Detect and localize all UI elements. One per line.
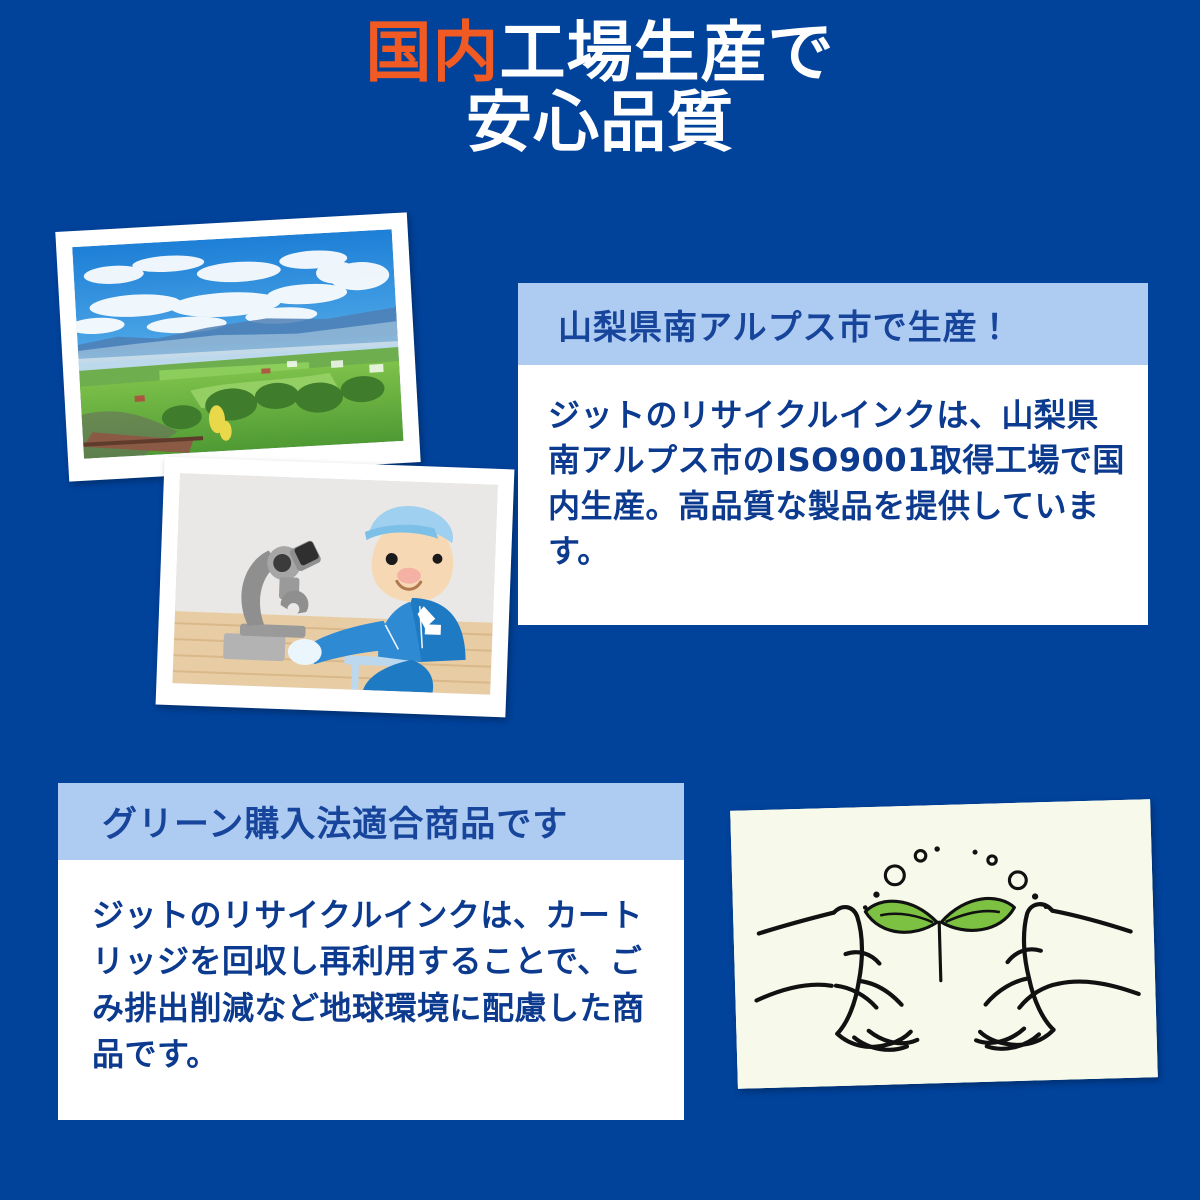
- headline-line1-text: 工場生産で: [500, 14, 835, 91]
- card-yamanashi-body: ジットのリサイクルインクは、山梨県南アルプス市のISO9001取得工場で国内生産…: [518, 365, 1148, 575]
- card-green-purchasing-body: ジットのリサイクルインクは、カートリッジを回収し再利用することで、ごみ排出削減な…: [58, 860, 684, 1078]
- headline-line2-text: 安心品質: [0, 88, 1200, 158]
- page-title: 国内工場生産で 安心品質: [0, 18, 1200, 158]
- landscape-photo-image: [72, 229, 403, 459]
- microscope-illustration-image: [172, 473, 497, 695]
- factory-worker-microscope-photo: [156, 457, 515, 718]
- card-green-purchasing: グリーン購入法適合商品です ジットのリサイクルインクは、カートリッジを回収し再利…: [58, 783, 684, 1120]
- headline-accent-text: 国内: [366, 14, 500, 91]
- card-green-purchasing-header: グリーン購入法適合商品です: [58, 783, 684, 860]
- card-yamanashi-header: 山梨県南アルプス市で生産！: [518, 283, 1148, 365]
- yamanashi-landscape-photo: [55, 212, 420, 481]
- infographic-canvas: 国内工場生産で 安心品質: [0, 0, 1200, 1200]
- hands-holding-sprout-illustration: [730, 799, 1158, 1089]
- card-yamanashi: 山梨県南アルプス市で生産！ ジットのリサイクルインクは、山梨県南アルプス市のIS…: [518, 283, 1148, 625]
- eco-illustration-image: [730, 799, 1158, 1089]
